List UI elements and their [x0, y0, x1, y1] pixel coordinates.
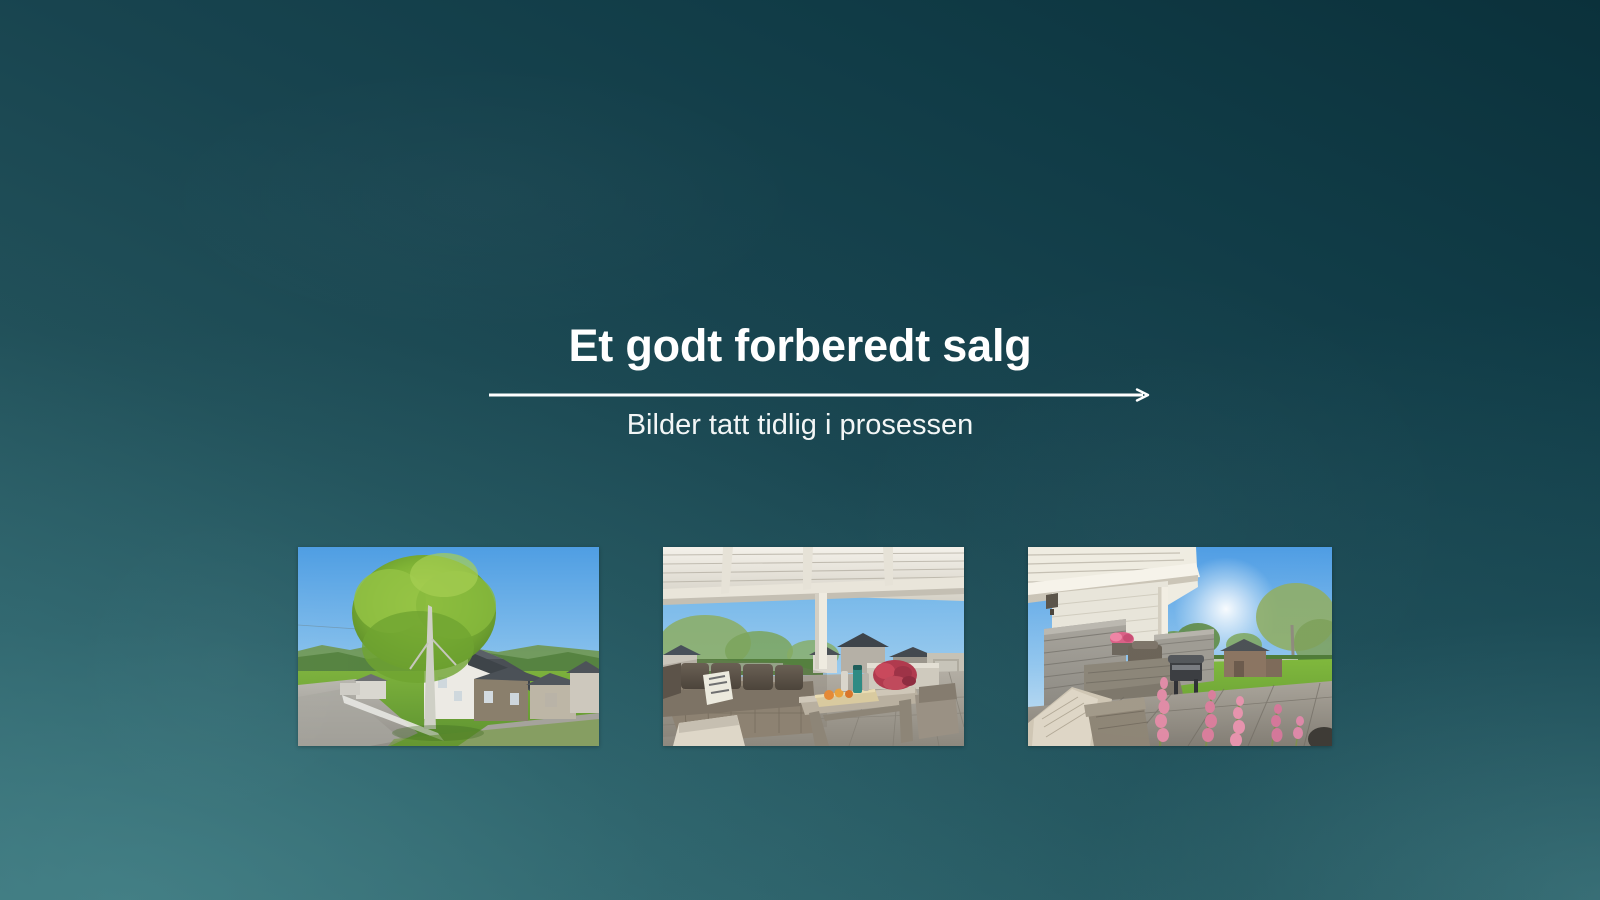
photo-street-aerial [298, 547, 599, 746]
slide-canvas: Et godt forberedt salg Bilder tatt tidli… [0, 0, 1600, 900]
gallery-photo-2[interactable] [663, 547, 964, 746]
gallery-photo-3[interactable] [1028, 547, 1332, 746]
title-block: Et godt forberedt salg [0, 322, 1600, 371]
photo-terrace-garden [1028, 547, 1332, 746]
photo-gallery [298, 547, 1332, 746]
page-title: Et godt forberedt salg [0, 322, 1600, 371]
page-subtitle: Bilder tatt tidlig i prosessen [0, 408, 1600, 443]
photo-covered-terrace [663, 547, 964, 746]
arrow-divider [489, 388, 1150, 402]
arrow-right-icon [489, 388, 1150, 402]
gallery-photo-1[interactable] [298, 547, 599, 746]
